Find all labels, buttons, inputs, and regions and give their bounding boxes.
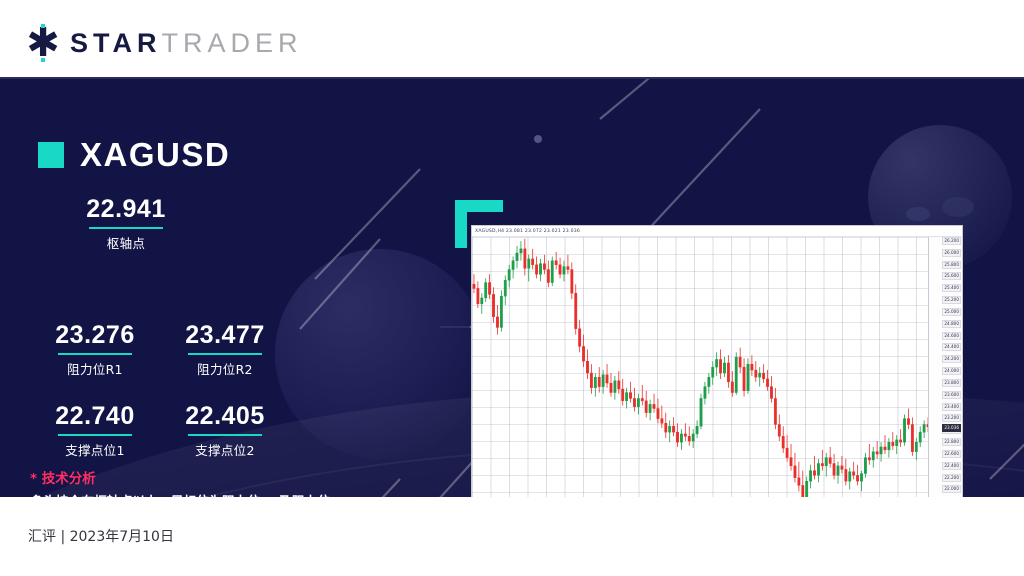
stat-r1-value: 23.276 [30,321,160,350]
chart-window[interactable]: XAGUSD,H4 23.081 23.072 23.021 23.036 26… [471,225,963,497]
footer-caption: 汇评 | 2023年7月10日 [28,526,174,546]
price-axis-tick: 25.600 [942,272,961,280]
price-axis-tick: 24.200 [942,355,961,363]
price-axis-tick: 25.200 [942,296,961,304]
brand-wordmark: STARTRADER [70,28,303,59]
stat-s2: 22.405 支撑点位2 [160,402,290,459]
stat-r2-label: 阻力位R2 [160,359,290,378]
price-axis-tick: 22.400 [942,462,961,470]
price-axis-tick: 23.200 [942,414,961,422]
stat-r2-value: 23.477 [160,321,290,350]
stat-s2-value: 22.405 [160,402,290,431]
stat-s1-value: 22.740 [30,402,160,431]
stat-underline [188,353,262,355]
current-price-label: 23.036 [942,424,961,432]
asterisk-icon: ✱ [26,26,60,60]
price-axis-tick: 22.200 [942,474,961,482]
stat-underline [188,434,262,436]
page-header: ✱ STARTRADER [0,0,1024,78]
stat-r2: 23.477 阻力位R2 [160,321,290,378]
stat-underline [89,227,163,229]
page-title: XAGUSD [80,136,230,174]
price-axis-tick: 22.000 [942,485,961,493]
price-axis-tick: 25.800 [942,261,961,269]
stat-pivot-label: 枢轴点 [56,233,196,252]
chart-title-text: XAGUSD,H4 23.081 23.072 23.021 23.036 [475,229,580,234]
price-axis-tick: 22.800 [942,438,961,446]
chart-plot-area[interactable] [472,237,928,497]
price-axis-tick: 26.200 [942,237,961,245]
stat-r1: 23.276 阻力位R1 [30,321,160,378]
symbol-row: XAGUSD [38,136,230,174]
technical-analysis: * 技术分析 多头持仓在枢轴点以上，目标位为阻力位R1及阻力位R2。 若低于枢轴… [30,467,402,497]
price-axis-tick: 23.400 [942,403,961,411]
price-axis-tick: 24.800 [942,320,961,328]
symbol-chip-icon [38,142,64,168]
stat-s1-label: 支撑点位1 [30,440,160,459]
stat-r1-label: 阻力位R1 [30,359,160,378]
price-axis-tick: 24.600 [942,332,961,340]
brand-logo: ✱ STARTRADER [26,26,303,60]
price-axis-tick: 22.600 [942,450,961,458]
price-axis-tick: 25.400 [942,284,961,292]
analysis-title: * 技术分析 [30,467,402,487]
stats-grid: 23.276 阻力位R1 23.477 阻力位R2 22.740 支撑点位1 2… [30,321,290,459]
price-axis-tick: 24.400 [942,343,961,351]
main-stage: XAGUSD 22.941 枢轴点 23.276 阻力位R1 23.477 阻力… [0,79,1024,497]
stat-s1: 22.740 支撑点位1 [30,402,160,459]
candlestick-series [472,237,928,497]
stat-underline [58,353,132,355]
price-axis-tick: 24.000 [942,367,961,375]
stat-s2-label: 支撑点位2 [160,440,290,459]
stat-pivot: 22.941 枢轴点 [56,195,196,252]
chart-title-bar: XAGUSD,H4 23.081 23.072 23.021 23.036 [472,226,962,237]
stat-underline [58,434,132,436]
price-axis-tick: 26.000 [942,249,961,257]
brand-name-bold: STAR [70,28,162,58]
price-axis-tick: 23.800 [942,379,961,387]
price-axis-tick: 25.000 [942,308,961,316]
price-axis-tick: 23.600 [942,391,961,399]
stat-pivot-value: 22.941 [56,195,196,224]
page-footer: 汇评 | 2023年7月10日 [0,497,1024,576]
chart-price-axis: 26.20026.00025.80025.60025.40025.20025.0… [928,237,962,497]
brand-name-thin: TRADER [162,28,303,58]
